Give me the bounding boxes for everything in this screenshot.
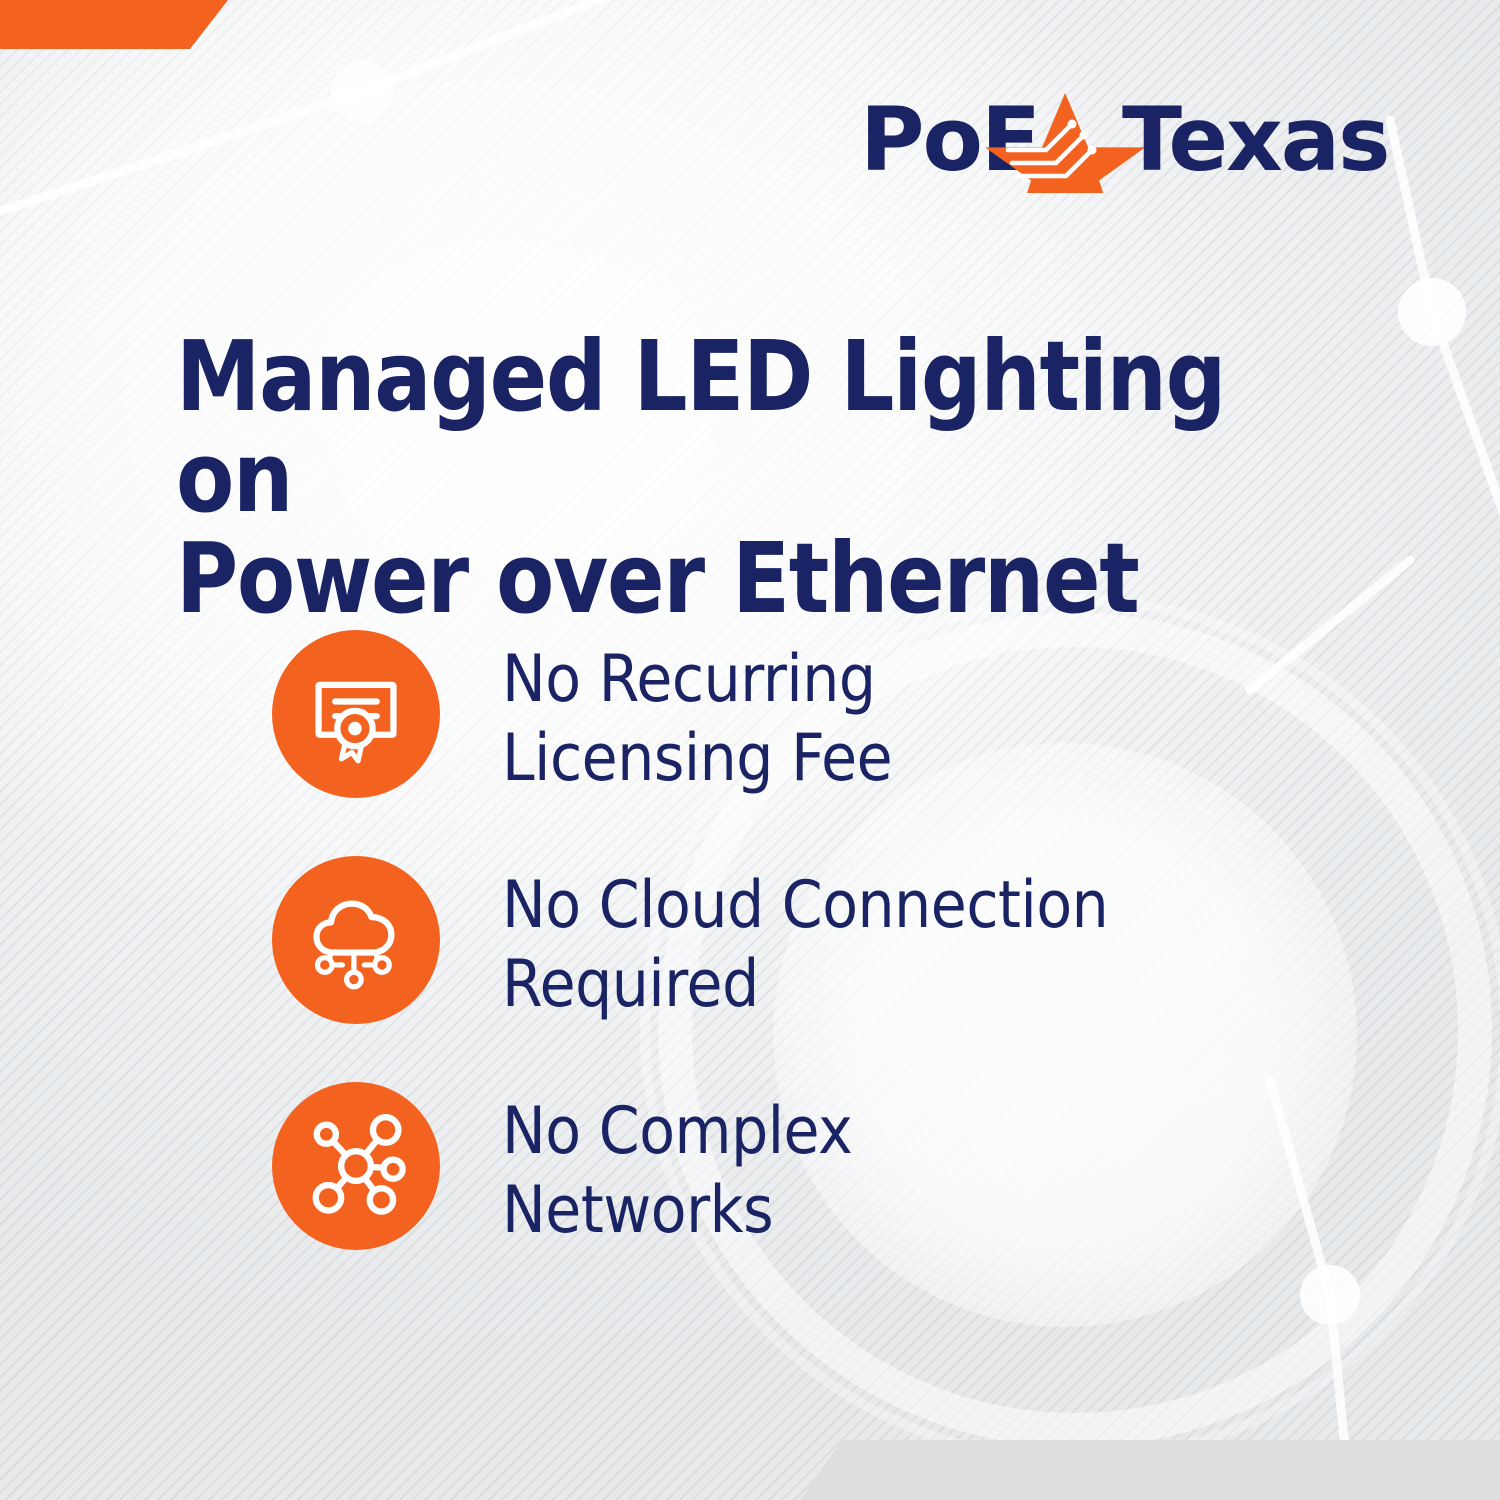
feature-list: No Recurring Licensing Fee [272, 630, 1272, 1308]
list-item-label: No Complex Networks [502, 1092, 852, 1250]
certificate-icon [272, 630, 440, 798]
corner-accent-gray [800, 1440, 1500, 1500]
poe-texas-logo[interactable]: PoE Texas [860, 88, 1405, 193]
list-item: No Cloud Connection Required [272, 856, 1272, 1024]
list-item: No Complex Networks [272, 1082, 1272, 1250]
corner-accent-orange [0, 0, 228, 49]
page-title: Managed LED Lighting on Power over Ether… [176, 326, 1226, 629]
logo-text-poe: PoE [860, 88, 1039, 191]
cloud-network-icon [272, 856, 440, 1024]
list-item-label: No Recurring Licensing Fee [502, 640, 892, 798]
list-item-label: No Cloud Connection Required [502, 866, 1108, 1024]
logo-text-texas: Texas [1122, 88, 1389, 191]
poster-canvas: PoE Texas Managed LED Lighting on Power [0, 0, 1500, 1500]
logo-artwork: PoE Texas [860, 88, 1405, 193]
cloud-network-glyph [304, 888, 408, 992]
list-item: No Recurring Licensing Fee [272, 630, 1272, 798]
certificate-glyph [304, 662, 408, 766]
network-hub-icon [272, 1082, 440, 1250]
network-hub-glyph [303, 1113, 409, 1219]
